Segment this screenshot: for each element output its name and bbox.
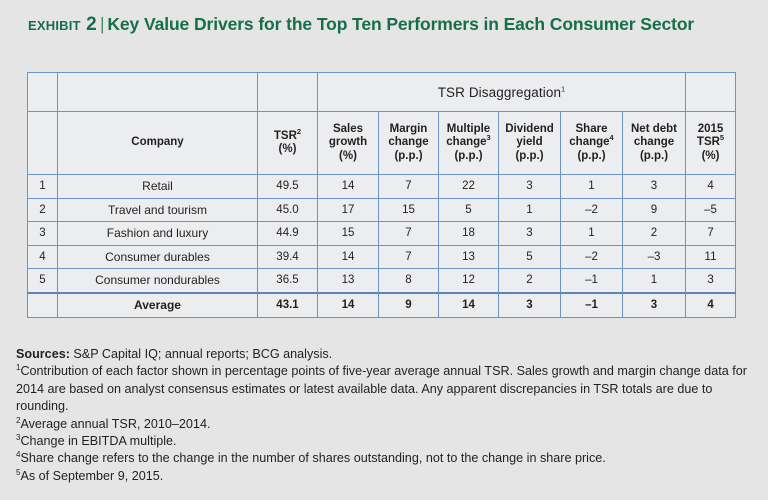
title-separator: | — [97, 14, 107, 34]
page-title: Exhibit 2|Key Value Drivers for the Top … — [28, 12, 740, 37]
cell-multiple-change: 14 — [439, 293, 499, 318]
col-header-multiple-change: Multiple change3 (p.p.) — [439, 112, 499, 175]
spanner-spacer-company — [58, 73, 258, 112]
cell-tsr: 39.4 — [258, 245, 318, 269]
col-header-share-change-line2: change — [569, 136, 609, 148]
table-row: 3 Fashion and luxury 44.9 15 7 18 3 1 2 … — [28, 222, 736, 246]
cell-share-change: –2 — [561, 245, 623, 269]
cell-rank: 3 — [28, 222, 58, 246]
col-header-sales-growth-line3: (%) — [339, 150, 357, 162]
cell-share-change: 1 — [561, 175, 623, 199]
col-header-tsr-2015-line2: TSR — [697, 136, 720, 148]
table-row: 2 Travel and tourism 45.0 17 15 5 1 –2 9… — [28, 198, 736, 222]
footnote-2-text: Average annual TSR, 2010–2014. — [20, 417, 210, 431]
col-header-tsr-line1: TSR — [274, 130, 297, 142]
cell-net-debt-change: 9 — [623, 198, 686, 222]
table-row: 1 Retail 49.5 14 7 22 3 1 3 4 — [28, 175, 736, 199]
col-header-dividend-yield: Dividend yield (p.p.) — [499, 112, 561, 175]
cell-tsr: 49.5 — [258, 175, 318, 199]
col-header-sales-growth-line1: Sales — [333, 123, 363, 135]
cell-tsr-2015: 4 — [686, 175, 736, 199]
cell-company: Consumer nondurables — [58, 269, 258, 293]
cell-rank — [28, 293, 58, 318]
cell-multiple-change: 13 — [439, 245, 499, 269]
footnote-4-text: Share change refers to the change in the… — [20, 451, 605, 465]
col-header-margin-change-line3: (p.p.) — [394, 150, 422, 162]
footnote-5: 5As of September 9, 2015. — [16, 468, 752, 485]
cell-sales-growth: 15 — [318, 222, 379, 246]
cell-margin-change: 7 — [379, 175, 439, 199]
cell-net-debt-change: 3 — [623, 175, 686, 199]
col-header-net-debt-change-line1: Net debt — [631, 123, 677, 135]
footnotes-section: Sources: S&P Capital IQ; annual reports;… — [16, 346, 752, 485]
cell-tsr: 45.0 — [258, 198, 318, 222]
spanner-footnote-marker: 1 — [561, 84, 565, 93]
col-header-company: Company — [58, 112, 258, 175]
cell-tsr: 36.5 — [258, 269, 318, 293]
cell-net-debt-change: –3 — [623, 245, 686, 269]
col-header-multiple-change-line2: change — [446, 136, 486, 148]
footnote-1: 1Contribution of each factor shown in pe… — [16, 363, 752, 415]
tsr-disaggregation-spanner: TSR Disaggregation1 — [318, 73, 686, 112]
footnote-3-text: Change in EBITDA multiple. — [20, 434, 176, 448]
cell-dividend-yield: 3 — [499, 222, 561, 246]
col-header-share-change: Share change4 (p.p.) — [561, 112, 623, 175]
cell-share-change: 1 — [561, 222, 623, 246]
col-header-margin-change: Margin change (p.p.) — [379, 112, 439, 175]
cell-net-debt-change: 2 — [623, 222, 686, 246]
cell-rank: 4 — [28, 245, 58, 269]
table-row: 4 Consumer durables 39.4 14 7 13 5 –2 –3… — [28, 245, 736, 269]
cell-tsr-2015: 7 — [686, 222, 736, 246]
cell-rank: 2 — [28, 198, 58, 222]
col-header-tsr-marker: 2 — [297, 127, 301, 136]
col-header-dividend-yield-line1: Dividend — [505, 123, 554, 135]
cell-margin-change: 9 — [379, 293, 439, 318]
cell-margin-change: 7 — [379, 245, 439, 269]
cell-tsr: 43.1 — [258, 293, 318, 318]
footnote-4: 4Share change refers to the change in th… — [16, 450, 752, 467]
table-row: 5 Consumer nondurables 36.5 13 8 12 2 –1… — [28, 269, 736, 293]
col-header-multiple-change-marker: 3 — [487, 133, 491, 142]
exhibit-table-container: TSR Disaggregation1 Company TSR2 (%) Sal… — [27, 72, 735, 318]
footnote-2: 2Average annual TSR, 2010–2014. — [16, 416, 752, 433]
cell-company: Retail — [58, 175, 258, 199]
cell-multiple-change: 22 — [439, 175, 499, 199]
cell-tsr: 44.9 — [258, 222, 318, 246]
cell-sales-growth: 14 — [318, 293, 379, 318]
cell-tsr-2015: 3 — [686, 269, 736, 293]
cell-share-change: –2 — [561, 198, 623, 222]
spanner-spacer-tsr2015 — [686, 73, 736, 112]
col-header-net-debt-change: Net debt change (p.p.) — [623, 112, 686, 175]
col-header-share-change-marker: 4 — [610, 133, 614, 142]
footnote-sources: Sources: S&P Capital IQ; annual reports;… — [16, 346, 752, 363]
cell-tsr-2015: 11 — [686, 245, 736, 269]
cell-sales-growth: 17 — [318, 198, 379, 222]
table-average-row: Average 43.1 14 9 14 3 –1 3 4 — [28, 293, 736, 318]
col-header-sales-growth: Sales growth (%) — [318, 112, 379, 175]
cell-company: Consumer durables — [58, 245, 258, 269]
cell-dividend-yield: 2 — [499, 269, 561, 293]
cell-rank: 1 — [28, 175, 58, 199]
exhibit-table: TSR Disaggregation1 Company TSR2 (%) Sal… — [27, 72, 736, 318]
exhibit-title-text: Key Value Drivers for the Top Ten Perfor… — [107, 14, 694, 34]
cell-tsr-2015: 4 — [686, 293, 736, 318]
sources-text: S&P Capital IQ; annual reports; BCG anal… — [70, 347, 332, 361]
cell-company: Fashion and luxury — [58, 222, 258, 246]
cell-multiple-change: 5 — [439, 198, 499, 222]
spanner-label: TSR Disaggregation — [438, 85, 561, 100]
footnote-1-text: Contribution of each factor shown in per… — [16, 364, 747, 413]
col-header-tsr: TSR2 (%) — [258, 112, 318, 175]
cell-sales-growth: 14 — [318, 245, 379, 269]
col-header-tsr-2015: 2015 TSR5 (%) — [686, 112, 736, 175]
cell-dividend-yield: 3 — [499, 293, 561, 318]
spanner-spacer-tsr — [258, 73, 318, 112]
col-header-multiple-change-line3: (p.p.) — [454, 150, 482, 162]
cell-company: Average — [58, 293, 258, 318]
footnote-5-text: As of September 9, 2015. — [20, 469, 163, 483]
cell-share-change: –1 — [561, 293, 623, 318]
footnote-3: 3Change in EBITDA multiple. — [16, 433, 752, 450]
col-header-tsr-line2: (%) — [279, 143, 297, 155]
cell-dividend-yield: 1 — [499, 198, 561, 222]
col-header-margin-change-line2: change — [388, 136, 428, 148]
cell-sales-growth: 14 — [318, 175, 379, 199]
exhibit-label: Exhibit 2 — [28, 14, 97, 35]
col-header-net-debt-change-line2: change — [634, 136, 674, 148]
cell-tsr-2015: –5 — [686, 198, 736, 222]
table-spanner-row: TSR Disaggregation1 — [28, 73, 736, 112]
cell-margin-change: 7 — [379, 222, 439, 246]
col-header-dividend-yield-line3: (p.p.) — [515, 150, 543, 162]
cell-multiple-change: 12 — [439, 269, 499, 293]
cell-share-change: –1 — [561, 269, 623, 293]
col-header-dividend-yield-line2: yield — [516, 136, 542, 148]
col-header-margin-change-line1: Margin — [390, 123, 428, 135]
col-header-tsr-2015-line3: (%) — [702, 150, 720, 162]
cell-sales-growth: 13 — [318, 269, 379, 293]
col-header-share-change-line3: (p.p.) — [577, 150, 605, 162]
cell-rank: 5 — [28, 269, 58, 293]
sources-label: Sources: — [16, 347, 70, 361]
cell-company: Travel and tourism — [58, 198, 258, 222]
col-header-net-debt-change-line3: (p.p.) — [640, 150, 668, 162]
cell-multiple-change: 18 — [439, 222, 499, 246]
table-header-row: Company TSR2 (%) Sales growth (%) Margin… — [28, 112, 736, 175]
cell-dividend-yield: 3 — [499, 175, 561, 199]
cell-net-debt-change: 3 — [623, 293, 686, 318]
col-header-rank — [28, 112, 58, 175]
cell-dividend-yield: 5 — [499, 245, 561, 269]
col-header-multiple-change-line1: Multiple — [447, 123, 490, 135]
cell-net-debt-change: 1 — [623, 269, 686, 293]
cell-margin-change: 8 — [379, 269, 439, 293]
col-header-share-change-line1: Share — [576, 123, 608, 135]
cell-margin-change: 15 — [379, 198, 439, 222]
col-header-sales-growth-line2: growth — [329, 136, 367, 148]
spanner-spacer-rank — [28, 73, 58, 112]
col-header-tsr-2015-marker: 5 — [720, 133, 724, 142]
